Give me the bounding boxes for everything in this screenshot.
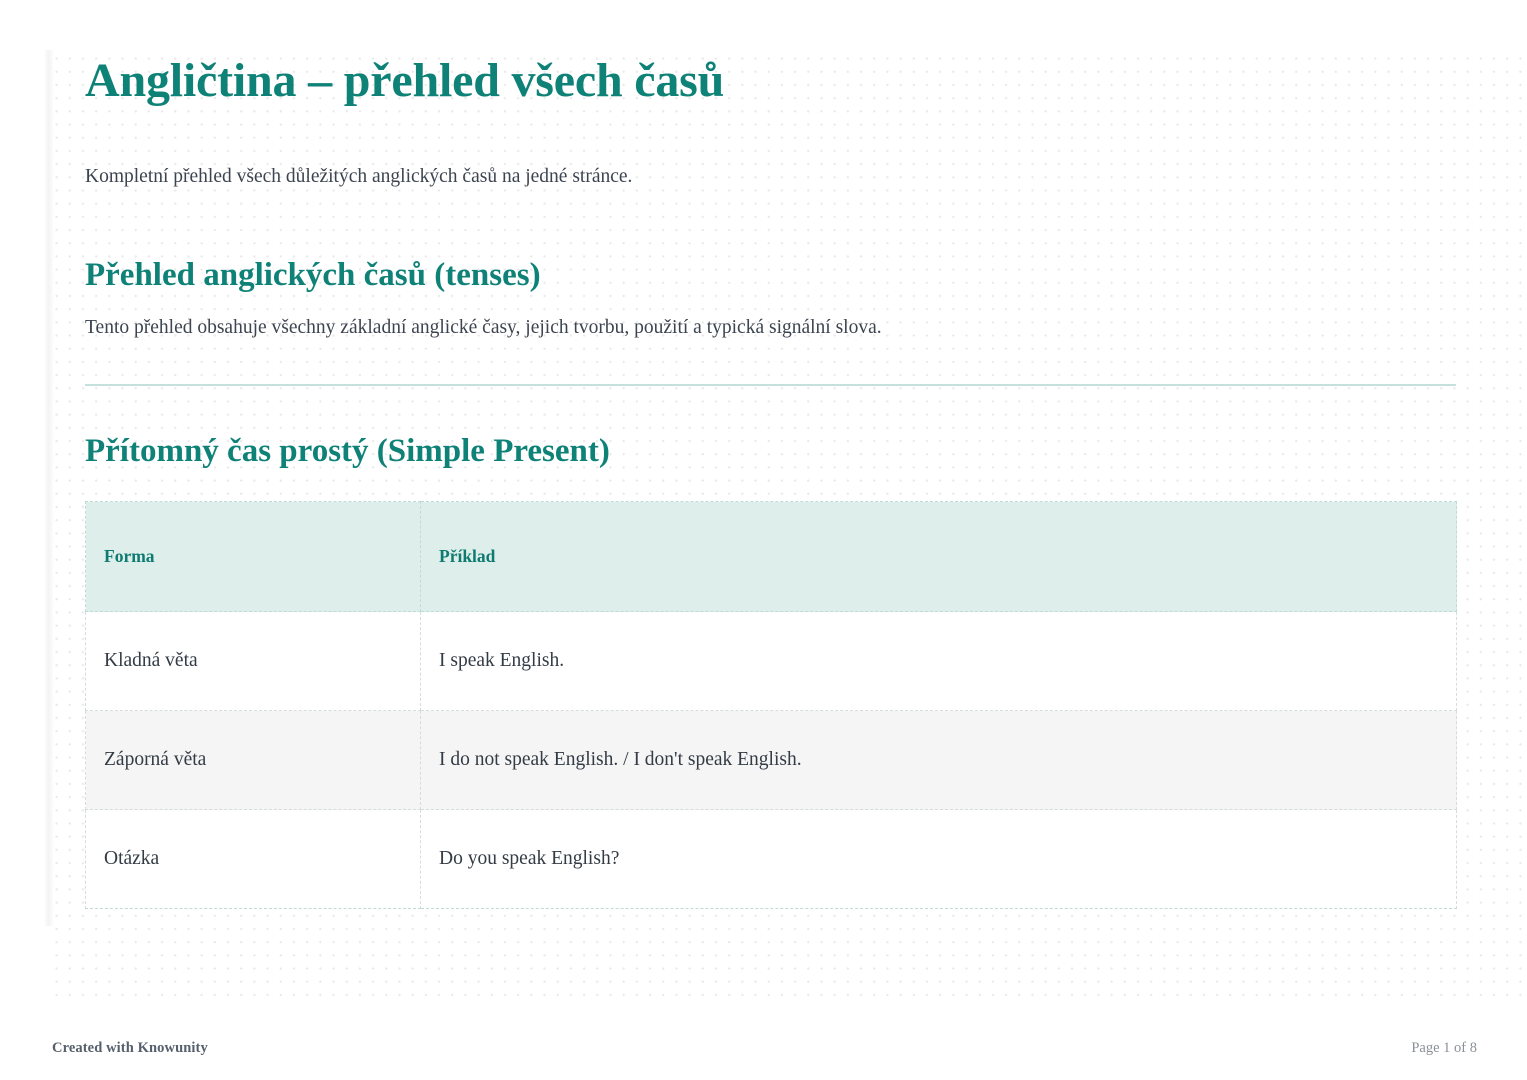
spacer: [85, 470, 1457, 501]
spacer: [85, 191, 1457, 257]
table-cell-forma: Záporná věta: [86, 711, 421, 810]
table-cell-priklad: I do not speak English. / I don't speak …: [421, 711, 1457, 810]
section-description: Tento přehled obsahuje všechny základní …: [85, 314, 1457, 342]
table-cell-priklad: Do you speak English?: [421, 810, 1457, 909]
page-left-edge: [44, 50, 54, 926]
spacer: [85, 107, 1457, 163]
table-row: Kladná věta I speak English.: [86, 612, 1457, 711]
footer-pagination: Page 1 of 8: [1411, 1040, 1477, 1057]
table-cell-forma: Otázka: [86, 810, 421, 909]
footer-credit: Created with Knowunity: [52, 1040, 208, 1057]
table-header: Forma Příklad: [86, 502, 1457, 612]
document-page: Angličtina – přehled všech časů Kompletn…: [0, 0, 1527, 1080]
table-column-header-forma: Forma: [86, 502, 421, 612]
tense-heading: Přítomný čas prostý (Simple Present): [85, 433, 1457, 470]
table-row: Záporná věta I do not speak English. / I…: [86, 711, 1457, 810]
document-subtitle: Kompletní přehled všech důležitých angli…: [85, 163, 1457, 191]
table-cell-priklad: I speak English.: [421, 612, 1457, 711]
table-column-header-priklad: Příklad: [421, 502, 1457, 612]
table-body: Kladná věta I speak English. Záporná vět…: [86, 612, 1457, 909]
table-header-row: Forma Příklad: [86, 502, 1457, 612]
spacer: [85, 342, 1457, 384]
section-heading: Přehled anglických časů (tenses): [85, 257, 1457, 294]
page-title: Angličtina – přehled všech časů: [85, 55, 1457, 107]
tense-table: Forma Příklad Kladná věta I speak Englis…: [85, 501, 1457, 909]
page-footer: Created with Knowunity Page 1 of 8: [0, 1022, 1527, 1080]
spacer: [85, 294, 1457, 314]
document-content: Angličtina – přehled všech časů Kompletn…: [85, 55, 1457, 909]
table-cell-forma: Kladná věta: [86, 612, 421, 711]
table-row: Otázka Do you speak English?: [86, 810, 1457, 909]
spacer: [85, 386, 1457, 433]
